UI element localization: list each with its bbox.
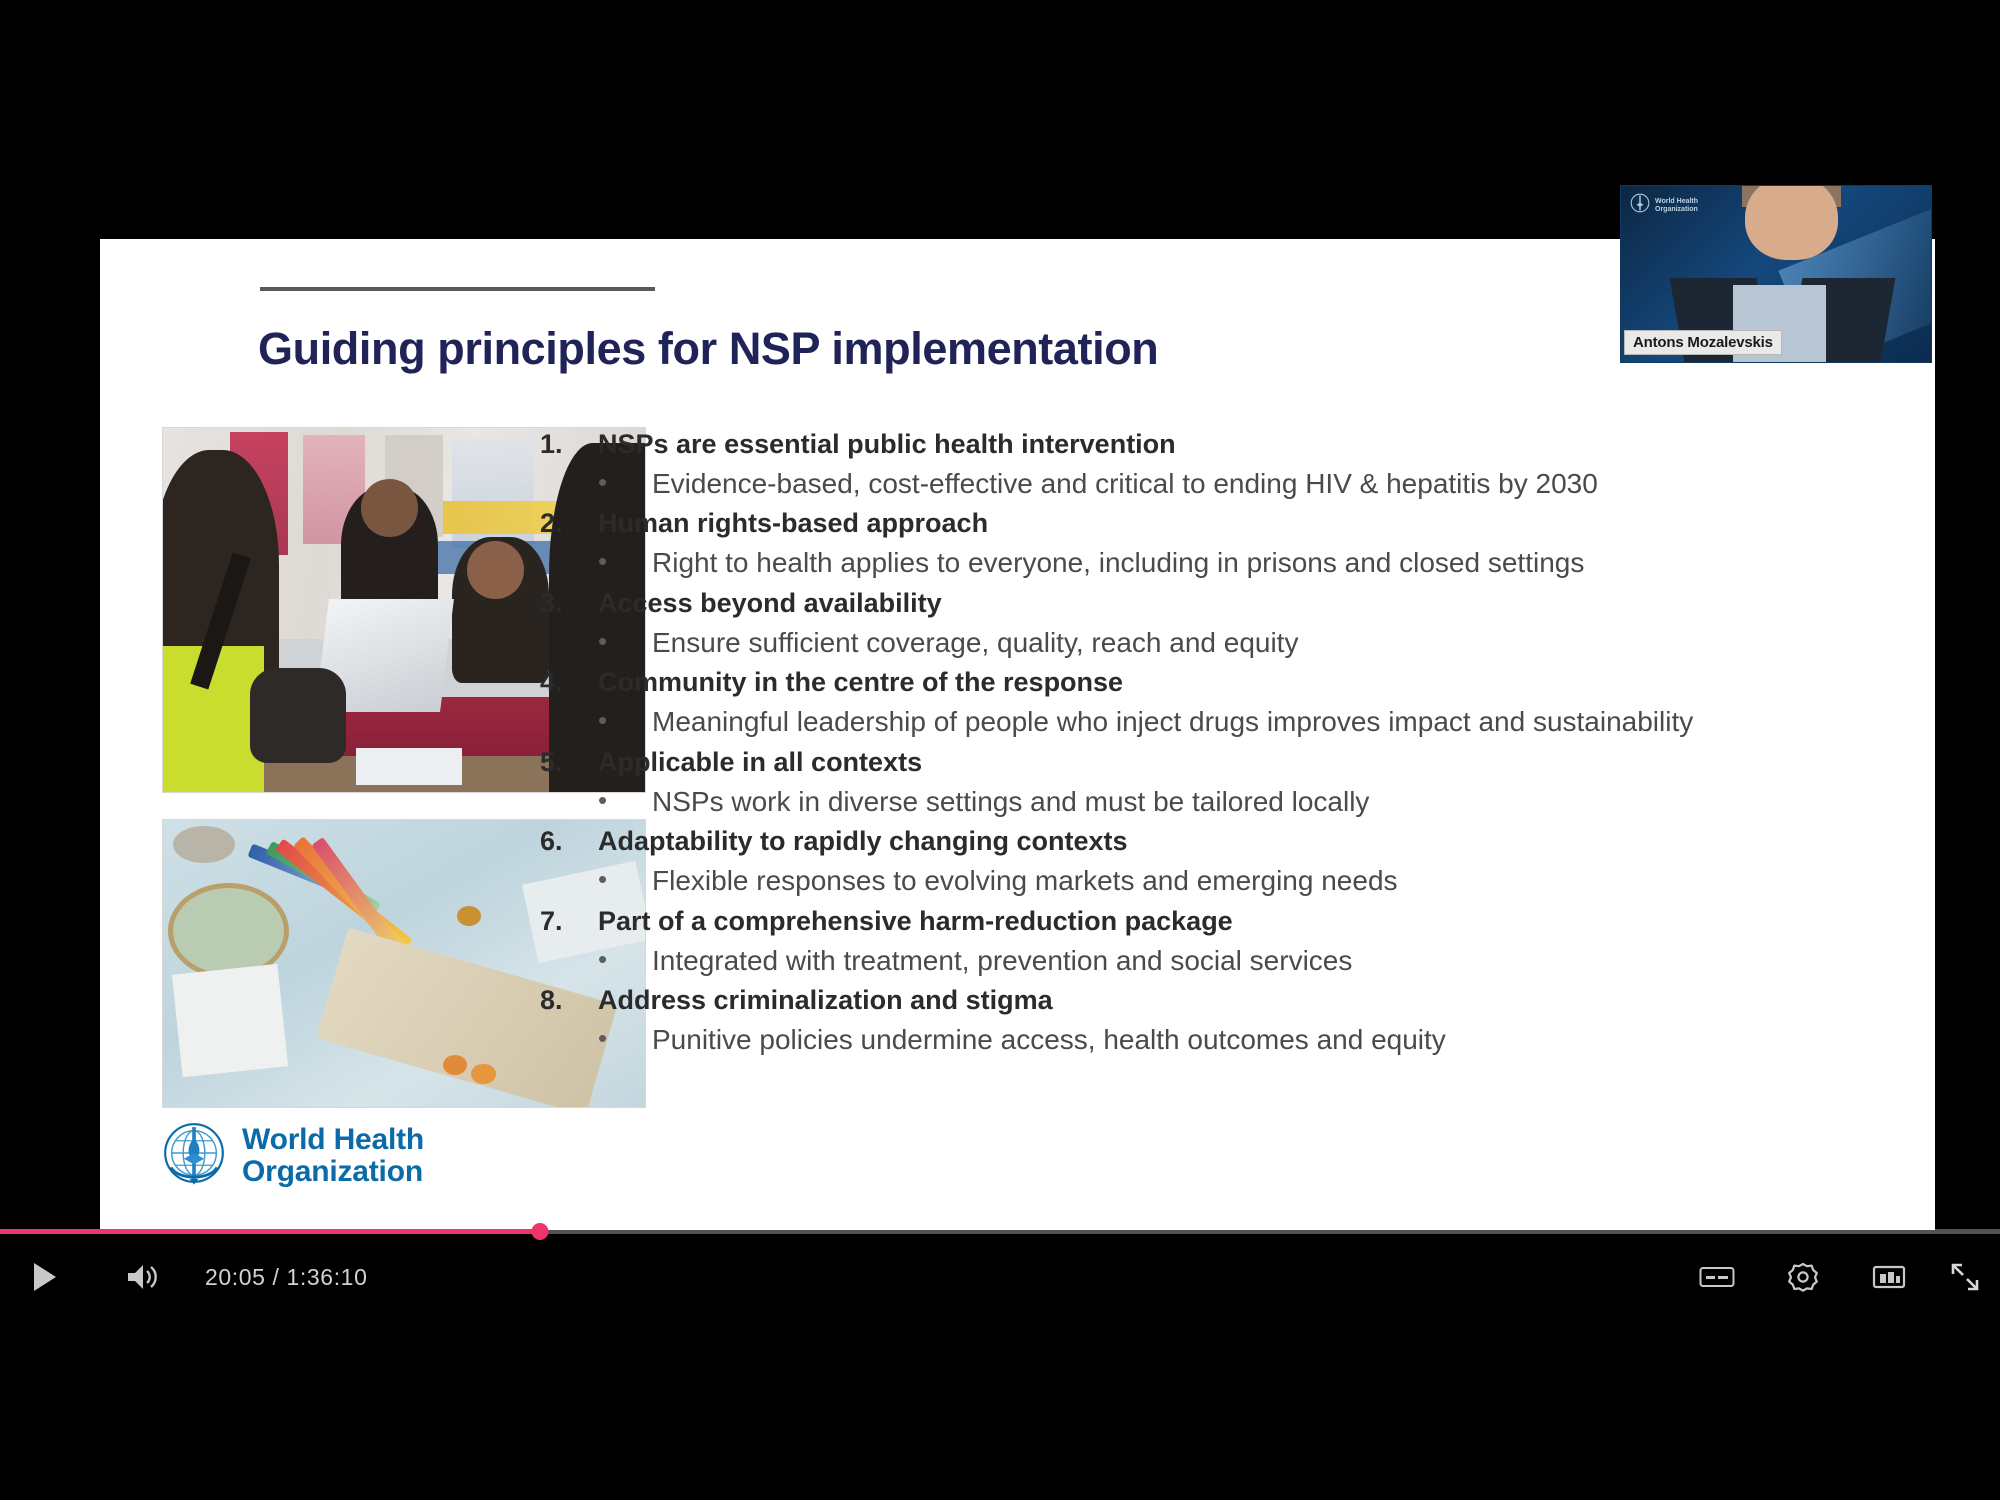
principle-detail-text: Punitive policies undermine access, heal… <box>652 1020 1446 1061</box>
who-logo: World Health Organization <box>158 1117 424 1194</box>
who-wordmark: World Health Organization <box>242 1124 424 1186</box>
progress-fill <box>0 1229 540 1234</box>
webcam-who-wordmark: World Health Organization <box>1655 198 1698 213</box>
principle-heading: Applicable in all contexts <box>598 743 922 782</box>
bullet-icon: • <box>598 623 652 661</box>
volume-button[interactable] <box>120 1256 166 1302</box>
principle-number: 8. <box>540 981 598 1020</box>
principle-detail-4: • Meaningful leadership of people who in… <box>598 702 1870 743</box>
settings-button[interactable] <box>1780 1256 1826 1302</box>
speaker-name-label: Antons Mozalevskis <box>1625 331 1781 354</box>
principle-heading: NSPs are essential public health interve… <box>598 425 1176 464</box>
principle-item-1: 1. NSPs are essential public health inte… <box>540 425 1870 464</box>
principle-item-4: 4. Community in the centre of the respon… <box>540 663 1870 702</box>
play-button[interactable] <box>22 1256 68 1302</box>
principle-detail-text: Meaningful leadership of people who inje… <box>652 702 1693 743</box>
principle-detail-7: • Integrated with treatment, prevention … <box>598 941 1870 982</box>
principle-detail-8: • Punitive policies undermine access, he… <box>598 1020 1870 1061</box>
captions-button[interactable] <box>1694 1256 1740 1302</box>
principle-number: 1. <box>540 425 598 464</box>
title-rule <box>260 287 655 291</box>
principle-number: 2. <box>540 504 598 543</box>
principle-detail-text: Ensure sufficient coverage, quality, rea… <box>652 623 1298 664</box>
volume-icon <box>126 1262 160 1297</box>
who-line-1: World Health <box>242 1124 424 1155</box>
who-emblem-icon <box>1629 192 1651 219</box>
principle-detail-text: Integrated with treatment, prevention an… <box>652 941 1352 982</box>
slide-title: Guiding principles for NSP implementatio… <box>258 323 1158 375</box>
principle-item-3: 3. Access beyond availability <box>540 584 1870 623</box>
principle-item-8: 8. Address criminalization and stigma <box>540 981 1870 1020</box>
principle-detail-3: • Ensure sufficient coverage, quality, r… <box>598 623 1870 664</box>
bullet-icon: • <box>598 464 652 502</box>
who-line-2: Organization <box>242 1156 424 1187</box>
progress-bar[interactable] <box>0 1224 2000 1238</box>
principles-list: 1. NSPs are essential public health inte… <box>540 425 1870 1061</box>
principle-item-6: 6. Adaptability to rapidly changing cont… <box>540 822 1870 861</box>
video-player: Guiding principles for NSP implementatio… <box>0 0 2000 1500</box>
principle-heading: Part of a comprehensive harm-reduction p… <box>598 902 1233 941</box>
principle-detail-text: Right to health applies to everyone, inc… <box>652 543 1584 584</box>
bullet-icon: • <box>598 782 652 820</box>
miniplayer-icon <box>1872 1264 1906 1295</box>
principle-detail-5: • NSPs work in diverse settings and must… <box>598 782 1870 823</box>
principle-detail-text: Flexible responses to evolving markets a… <box>652 861 1398 902</box>
principle-detail-text: NSPs work in diverse settings and must b… <box>652 782 1369 823</box>
principle-number: 4. <box>540 663 598 702</box>
principle-number: 5. <box>540 743 598 782</box>
principle-heading: Address criminalization and stigma <box>598 981 1053 1020</box>
bullet-icon: • <box>598 941 652 979</box>
webcam-org-line-2: Organization <box>1655 206 1698 213</box>
principle-number: 3. <box>540 584 598 623</box>
principle-detail-text: Evidence-based, cost-effective and criti… <box>652 464 1598 505</box>
bullet-icon: • <box>598 1020 652 1058</box>
captions-icon <box>1699 1264 1735 1295</box>
principle-heading: Human rights-based approach <box>598 504 988 543</box>
webcam-who-logo: World Health Organization <box>1629 192 1698 219</box>
presentation-slide: Guiding principles for NSP implementatio… <box>100 239 1935 1230</box>
bullet-icon: • <box>598 861 652 899</box>
bullet-icon: • <box>598 702 652 740</box>
principle-item-5: 5. Applicable in all contexts <box>540 743 1870 782</box>
fullscreen-icon <box>1950 1262 1980 1297</box>
miniplayer-button[interactable] <box>1866 1256 1912 1302</box>
gear-icon <box>1787 1261 1819 1298</box>
principle-detail-2: • Right to health applies to everyone, i… <box>598 543 1870 584</box>
fullscreen-button[interactable] <box>1944 1258 1986 1300</box>
webcam-org-line-1: World Health <box>1655 198 1698 205</box>
principle-number: 6. <box>540 822 598 861</box>
principle-item-2: 2. Human rights-based approach <box>540 504 1870 543</box>
principle-heading: Community in the centre of the response <box>598 663 1123 702</box>
principle-heading: Access beyond availability <box>598 584 942 623</box>
principle-heading: Adaptability to rapidly changing context… <box>598 822 1128 861</box>
speaker-webcam-tile[interactable]: World Health Organization Antons Mozalev… <box>1620 185 1932 363</box>
play-icon <box>31 1261 59 1298</box>
player-control-bar: 20:05 / 1:36:10 <box>0 1238 2000 1324</box>
principle-detail-1: • Evidence-based, cost-effective and cri… <box>598 464 1870 505</box>
principle-detail-6: • Flexible responses to evolving markets… <box>598 861 1870 902</box>
bullet-icon: • <box>598 543 652 581</box>
who-emblem-icon <box>158 1117 230 1194</box>
principle-item-7: 7. Part of a comprehensive harm-reductio… <box>540 902 1870 941</box>
principle-number: 7. <box>540 902 598 941</box>
time-display: 20:05 / 1:36:10 <box>205 1264 367 1291</box>
